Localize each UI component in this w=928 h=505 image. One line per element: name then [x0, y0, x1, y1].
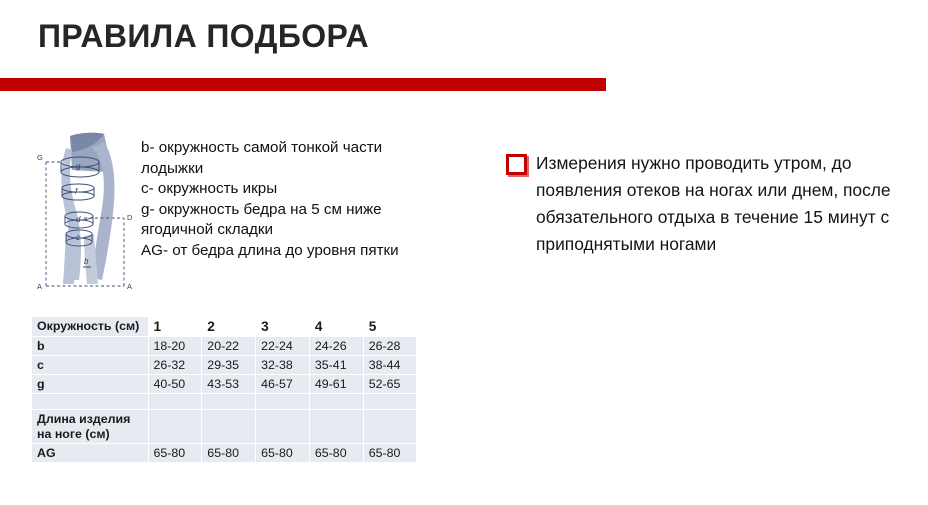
cell-ag-4: 65-80: [309, 444, 363, 463]
table-row: b 18-20 20-22 22-24 24-26 26-28: [32, 337, 417, 356]
cell-g-5: 52-65: [363, 375, 417, 394]
header-size-5: 5: [363, 317, 417, 337]
size-table-grid: Окружность (см) 1 2 3 4 5 b 18-20 20-22 …: [32, 317, 417, 463]
section-cell-4: [309, 410, 363, 444]
row-label-b: b: [32, 337, 148, 356]
section-cell-3: [256, 410, 310, 444]
measurement-legend: b- окружность самой тонкой части лодыжки…: [141, 138, 441, 262]
row-label-c: c: [32, 356, 148, 375]
label-g: g: [76, 162, 81, 171]
section-cell-2: [202, 410, 256, 444]
spacer-label: [32, 394, 148, 410]
cell-c-1: 26-32: [148, 356, 202, 375]
header-size-3: 3: [256, 317, 310, 337]
label-c: c: [76, 233, 80, 242]
label-b: b: [84, 257, 89, 266]
cell-c-2: 29-35: [202, 356, 256, 375]
cell-c-3: 32-38: [256, 356, 310, 375]
spacer-cell-3: [256, 394, 310, 410]
table-row: g 40-50 43-53 46-57 49-61 52-65: [32, 375, 417, 394]
cell-ag-1: 65-80: [148, 444, 202, 463]
page-title: ПРАВИЛА ПОДБОРА: [38, 18, 369, 55]
leg-measurement-diagram: G A A D g f d c b: [32, 112, 140, 297]
slide-root: ПРАВИЛА ПОДБОРА: [0, 0, 928, 505]
legend-line-ag: AG- от бедра длина до уровня пятки: [141, 241, 441, 262]
label-D: D: [127, 213, 133, 222]
cell-c-5: 38-44: [363, 356, 417, 375]
cell-g-3: 46-57: [256, 375, 310, 394]
cell-ag-3: 65-80: [256, 444, 310, 463]
legend-line-g: g- окружность бедра на 5 см ниже ягодичн…: [141, 200, 441, 241]
table-row: AG 65-80 65-80 65-80 65-80 65-80: [32, 444, 417, 463]
header-size-1: 1: [148, 317, 202, 337]
spacer-cell-4: [309, 394, 363, 410]
cell-b-3: 22-24: [256, 337, 310, 356]
cell-g-2: 43-53: [202, 375, 256, 394]
cell-ag-2: 65-80: [202, 444, 256, 463]
cell-b-4: 24-26: [309, 337, 363, 356]
row-label-g: g: [32, 375, 148, 394]
title-accent-rule: [0, 78, 606, 91]
cell-g-4: 49-61: [309, 375, 363, 394]
legend-line-b: b- окружность самой тонкой части лодыжки: [141, 138, 441, 179]
cell-b-5: 26-28: [363, 337, 417, 356]
table-header-row: Окружность (см) 1 2 3 4 5: [32, 317, 417, 337]
label-A-right: A: [127, 282, 132, 291]
cell-b-1: 18-20: [148, 337, 202, 356]
measurement-advice-block: Измерения нужно проводить утром, до появ…: [506, 150, 906, 258]
row-label-product-length: Длина изделия на ноге (см): [32, 410, 148, 444]
section-cell-1: [148, 410, 202, 444]
cell-ag-5: 65-80: [363, 444, 417, 463]
measurement-labels: G A A D: [37, 153, 133, 291]
header-measure-label: Окружность (см): [32, 317, 148, 337]
legend-line-c: c- окружность икры: [141, 179, 441, 200]
spacer-cell-5: [363, 394, 417, 410]
measurement-advice-text: Измерения нужно проводить утром, до появ…: [536, 150, 906, 258]
label-d: d: [76, 215, 81, 224]
header-size-4: 4: [309, 317, 363, 337]
cell-g-1: 40-50: [148, 375, 202, 394]
label-G: G: [37, 153, 43, 162]
cell-b-2: 20-22: [202, 337, 256, 356]
table-row: c 26-32 29-35 32-38 35-41 38-44: [32, 356, 417, 375]
header-size-2: 2: [202, 317, 256, 337]
size-table: Окружность (см) 1 2 3 4 5 b 18-20 20-22 …: [32, 317, 417, 463]
row-label-ag: AG: [32, 444, 148, 463]
label-A-left: A: [37, 282, 42, 291]
table-spacer-row: [32, 394, 417, 410]
section-cell-5: [363, 410, 417, 444]
spacer-cell-2: [202, 394, 256, 410]
cell-c-4: 35-41: [309, 356, 363, 375]
square-bullet-icon: [506, 154, 527, 175]
spacer-cell-1: [148, 394, 202, 410]
table-section-row: Длина изделия на ноге (см): [32, 410, 417, 444]
